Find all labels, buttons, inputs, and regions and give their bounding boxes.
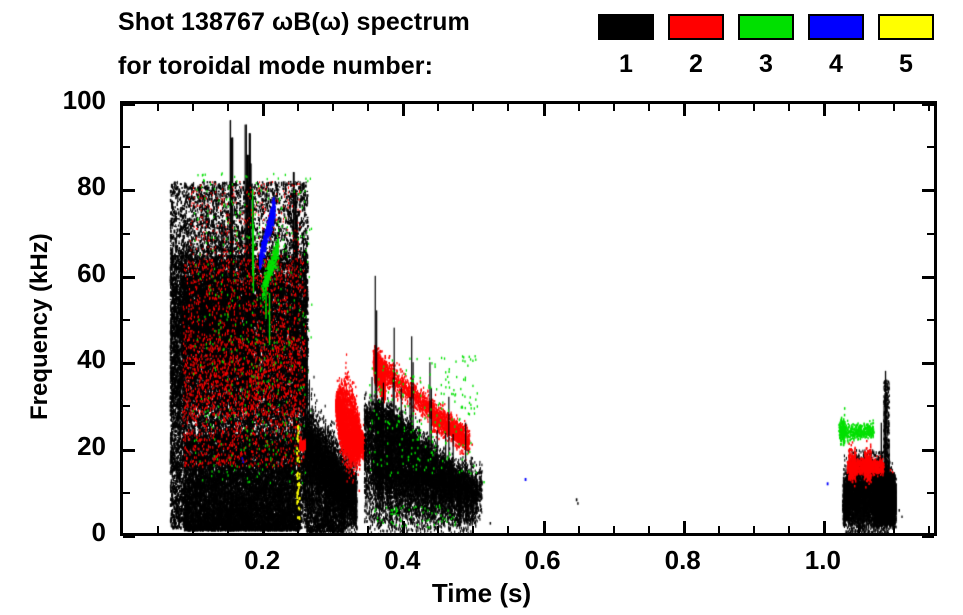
y-axis-title: Frequency (kHz): [26, 233, 54, 420]
y-tick-label-80: 80: [36, 171, 106, 202]
y-tick-label-20: 20: [36, 431, 106, 462]
legend-swatch-1: [598, 14, 654, 40]
legend-label-2: 2: [668, 50, 724, 79]
y-tick-label-0: 0: [36, 517, 106, 548]
legend-swatch-5: [878, 14, 934, 40]
x-tick-label-0.2: 0.2: [217, 545, 307, 576]
spectrogram-figure: Shot 138767 ωB(ω) spectrum for toroidal …: [0, 0, 963, 615]
legend-label-1: 1: [598, 50, 654, 79]
spectrogram-canvas: [122, 103, 935, 535]
x-axis-title: Time (s): [0, 578, 963, 609]
legend-swatch-3: [738, 14, 794, 40]
y-tick-right: [922, 535, 934, 538]
plot-title-line2: for toroidal mode number:: [118, 52, 433, 81]
y-tick-label-100: 100: [36, 85, 106, 116]
x-tick-label-0.4: 0.4: [357, 545, 447, 576]
plot-title-line1: Shot 138767 ωB(ω) spectrum: [118, 8, 470, 37]
legend-label-4: 4: [808, 50, 864, 79]
x-tick-label-0.8: 0.8: [638, 545, 728, 576]
y-tick: [123, 535, 135, 538]
legend-label-3: 3: [738, 50, 794, 79]
legend-swatch-4: [808, 14, 864, 40]
x-tick-label-0.6: 0.6: [498, 545, 588, 576]
legend-label-5: 5: [878, 50, 934, 79]
legend-swatch-2: [668, 14, 724, 40]
legend: 12345: [598, 14, 940, 78]
x-tick-label-1.0: 1.0: [778, 545, 868, 576]
